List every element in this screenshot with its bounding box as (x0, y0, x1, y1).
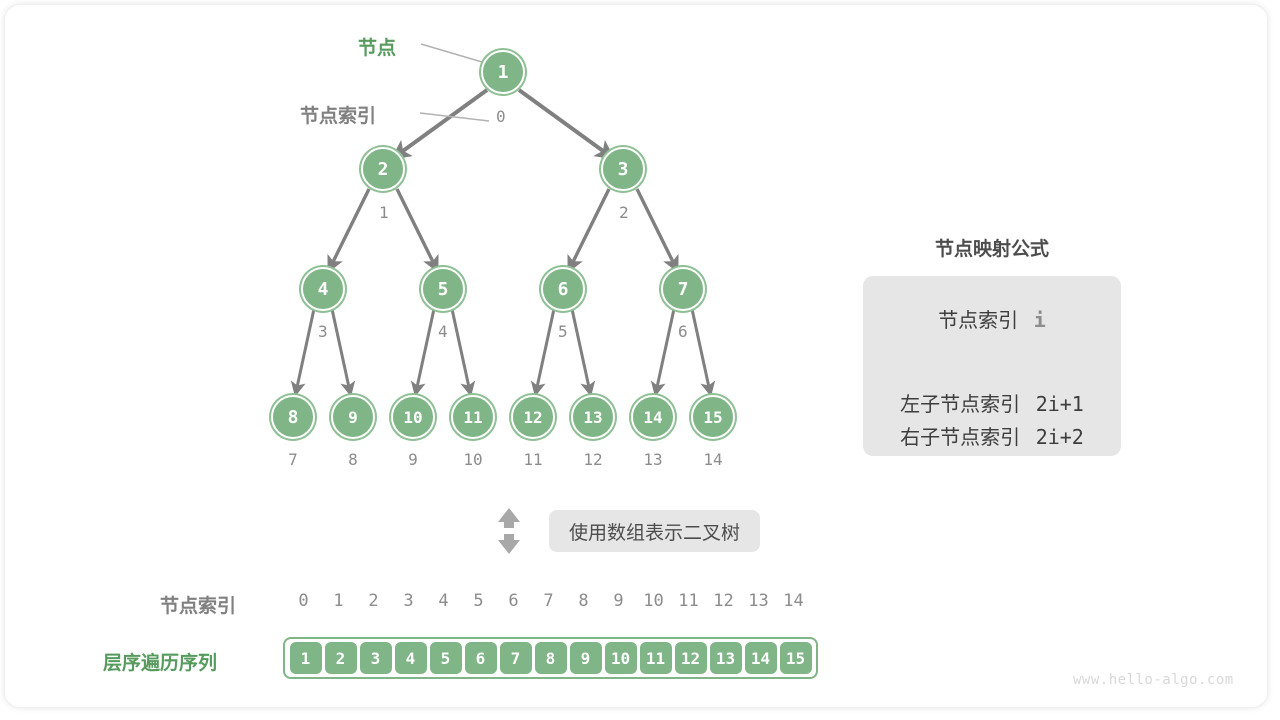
watermark: www.hello-algo.com (1073, 672, 1234, 688)
double-arrow-icon (498, 508, 520, 554)
tree-node[interactable]: 1 (481, 50, 525, 94)
array-index: 5 (461, 591, 496, 611)
formula-panel: 节点索引 i 左子节点索引 2i+1 右子节点索引 2i+2 (863, 276, 1121, 456)
tree-node[interactable]: 15 (691, 395, 735, 439)
level-order-array: 1 2 3 4 5 6 7 8 9 10 11 12 13 14 15 (283, 637, 818, 679)
tree-node-index: 6 (678, 322, 688, 341)
array-index: 4 (426, 591, 461, 611)
array-index: 2 (356, 591, 391, 611)
array-index: 3 (391, 591, 426, 611)
array-cell[interactable]: 9 (570, 642, 602, 674)
tree-node-index: 11 (511, 450, 555, 469)
array-cell[interactable]: 13 (710, 642, 742, 674)
tree-node[interactable]: 12 (511, 395, 555, 439)
array-cell[interactable]: 2 (325, 642, 357, 674)
array-cell[interactable]: 10 (605, 642, 637, 674)
tree-node-index: 14 (691, 450, 735, 469)
array-index: 10 (636, 591, 671, 611)
annotation-node-index-label: 节点索引 (300, 101, 376, 128)
array-values-row-label: 层序遍历序列 (103, 648, 217, 675)
formula-right-child-expr: 2i+2 (1036, 425, 1084, 449)
tree-node-index: 7 (271, 450, 315, 469)
tree-node-index: 1 (379, 203, 389, 222)
array-cell[interactable]: 15 (780, 642, 812, 674)
array-cell[interactable]: 7 (500, 642, 532, 674)
array-cell[interactable]: 6 (465, 642, 497, 674)
tree-node[interactable]: 7 (661, 267, 705, 311)
array-cell[interactable]: 1 (290, 642, 322, 674)
tree-node[interactable]: 3 (601, 147, 645, 191)
array-index: 12 (706, 591, 741, 611)
array-index: 9 (601, 591, 636, 611)
tree-node[interactable]: 2 (361, 147, 405, 191)
array-index-row-label: 节点索引 (160, 591, 236, 618)
tree-node[interactable]: 9 (331, 395, 375, 439)
tree-node[interactable]: 11 (451, 395, 495, 439)
array-cell[interactable]: 4 (395, 642, 427, 674)
tree-node-index: 0 (496, 107, 506, 126)
tree-node-index: 9 (391, 450, 435, 469)
array-index: 13 (741, 591, 776, 611)
tree-node-index: 10 (451, 450, 495, 469)
tree-node[interactable]: 6 (541, 267, 585, 311)
formula-left-child-label: 左子节点索引 (900, 394, 1020, 416)
array-cell[interactable]: 8 (535, 642, 567, 674)
formula-input-var: i (1034, 308, 1046, 332)
array-cell[interactable]: 12 (675, 642, 707, 674)
tree-node-index: 13 (631, 450, 675, 469)
array-cell[interactable]: 14 (745, 642, 777, 674)
annotation-node-label: 节点 (358, 33, 396, 60)
tree-node-index: 3 (318, 322, 328, 341)
tree-node[interactable]: 14 (631, 395, 675, 439)
array-cell[interactable]: 3 (360, 642, 392, 674)
array-index-row: 0 1 2 3 4 5 6 7 8 9 10 11 12 13 14 (283, 590, 814, 612)
tree-node[interactable]: 13 (571, 395, 615, 439)
tree-node-index: 8 (331, 450, 375, 469)
tree-node-index: 5 (558, 322, 568, 341)
array-representation-caption: 使用数组表示二叉树 (549, 510, 760, 552)
array-index: 7 (531, 591, 566, 611)
array-cell[interactable]: 5 (430, 642, 462, 674)
tree-node[interactable]: 4 (301, 267, 345, 311)
figure-canvas: 节点 节点索引 1 0 2 1 3 2 4 3 5 4 6 5 7 6 8 9 … (0, 0, 1280, 720)
formula-left-child-expr: 2i+1 (1036, 392, 1084, 416)
array-index: 8 (566, 591, 601, 611)
tree-node[interactable]: 10 (391, 395, 435, 439)
array-index: 6 (496, 591, 531, 611)
array-cell[interactable]: 11 (640, 642, 672, 674)
formula-input-line: 节点索引 i (863, 304, 1121, 333)
formula-right-child-line: 右子节点索引 2i+2 (863, 421, 1121, 450)
tree-node[interactable]: 8 (271, 395, 315, 439)
formula-left-child-line: 左子节点索引 2i+1 (863, 388, 1121, 417)
array-index: 1 (321, 591, 356, 611)
tree-node-index: 4 (438, 322, 448, 341)
array-index: 11 (671, 591, 706, 611)
formula-panel-title: 节点映射公式 (863, 234, 1121, 261)
tree-node-index: 2 (619, 203, 629, 222)
formula-right-child-label: 右子节点索引 (900, 427, 1020, 449)
array-index: 14 (776, 591, 811, 611)
tree-node[interactable]: 5 (421, 267, 465, 311)
formula-input-label: 节点索引 (938, 310, 1018, 332)
array-index: 0 (286, 591, 321, 611)
tree-node-index: 12 (571, 450, 615, 469)
